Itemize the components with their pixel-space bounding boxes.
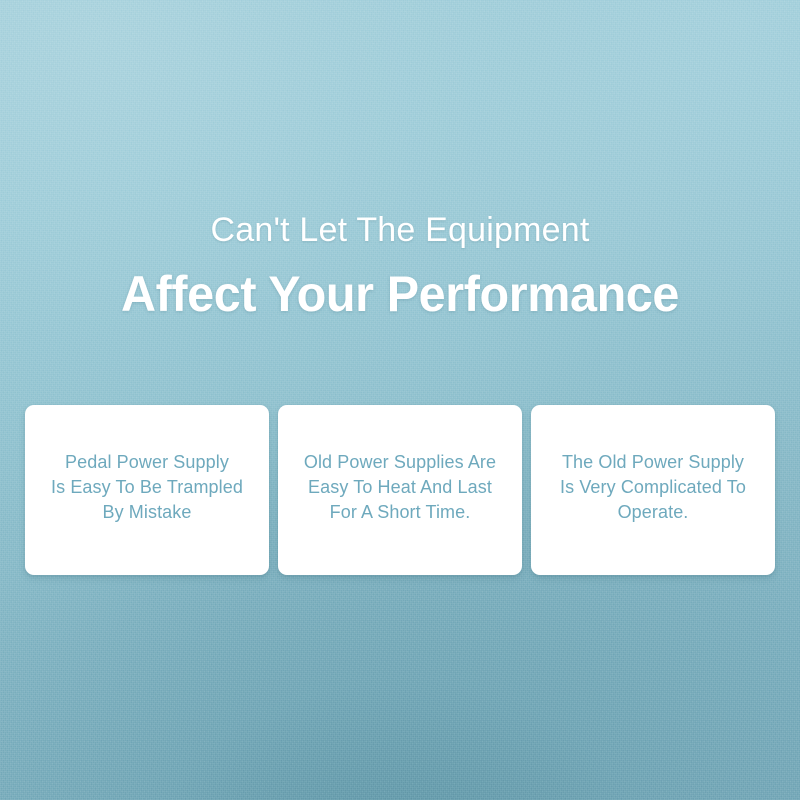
feature-card-trampled: Pedal Power Supply Is Easy To Be Trample… bbox=[25, 405, 269, 575]
feature-card-text: Old Power Supplies Are Easy To Heat And … bbox=[304, 450, 496, 525]
headline-line-1: Can't Let The Equipment bbox=[0, 208, 800, 252]
feature-card-text: Pedal Power Supply Is Easy To Be Trample… bbox=[51, 450, 243, 525]
feature-card-heat: Old Power Supplies Are Easy To Heat And … bbox=[278, 405, 522, 575]
promo-banner: Can't Let The Equipment Affect Your Perf… bbox=[0, 0, 800, 800]
headline-line-2: Affect Your Performance bbox=[12, 264, 788, 324]
feature-card-row: Pedal Power Supply Is Easy To Be Trample… bbox=[25, 405, 775, 575]
feature-card-complicated: The Old Power Supply Is Very Complicated… bbox=[531, 405, 775, 575]
feature-card-text: The Old Power Supply Is Very Complicated… bbox=[560, 450, 746, 525]
headline-block: Can't Let The Equipment Affect Your Perf… bbox=[0, 208, 800, 324]
background-noise-texture-secondary bbox=[0, 0, 800, 800]
